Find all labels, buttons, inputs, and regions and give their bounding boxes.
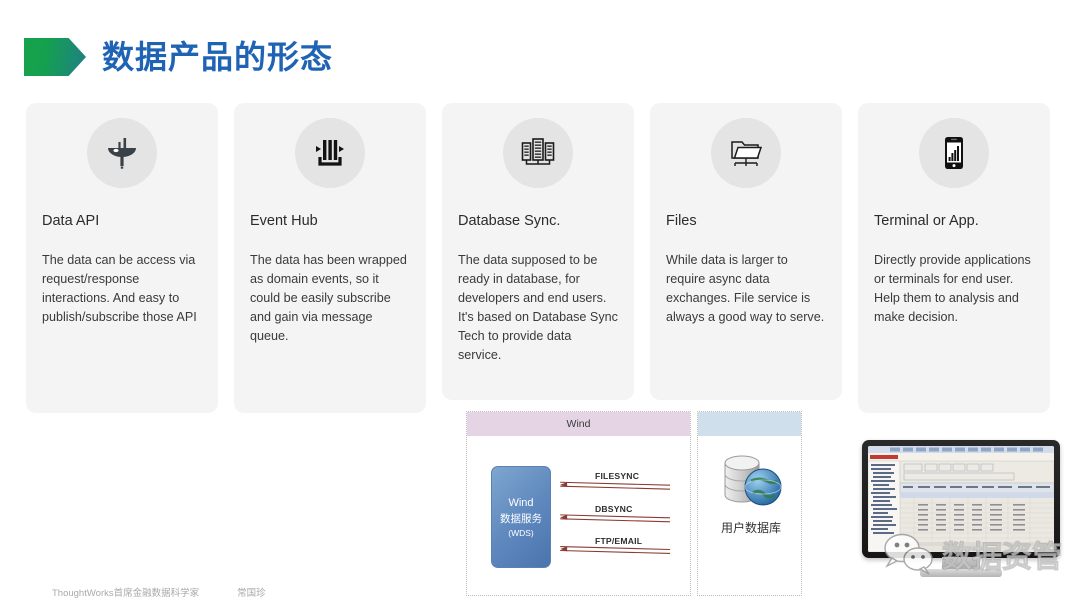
card-data-api[interactable]: Data API The data can be access via requ… <box>26 103 218 413</box>
watermark: 数据资管 <box>880 525 1080 583</box>
footer-role: ThoughtWorks首席金融数据科学家 <box>52 585 199 599</box>
card-row: Data API The data can be access via requ… <box>26 103 1056 413</box>
wind-data-service-box: Wind 数据服务 (WDS) <box>491 466 551 568</box>
wds-line-3: (WDS) <box>508 528 534 538</box>
shared-folder-icon <box>711 118 781 188</box>
server-racks-icon <box>503 118 573 188</box>
wind-panel-header: Wind <box>467 412 690 436</box>
funnel-icon <box>87 118 157 188</box>
wds-line-1: Wind <box>508 497 533 509</box>
slide-header: 数据产品的形态 <box>0 28 333 86</box>
watermark-text: 数据资管 <box>942 532 1062 576</box>
user-database-label: 用户数据库 <box>721 519 781 536</box>
card-terminal-or-app[interactable]: Terminal or App. Directly provide applic… <box>858 103 1050 413</box>
wds-line-2: 数据服务 <box>500 511 542 526</box>
card-title: Data API <box>42 213 218 229</box>
icon-wrap <box>234 118 426 188</box>
architecture-diagram: Wind Wind 数据服务 (WDS) <box>458 403 810 603</box>
card-body: The data has been wrapped as domain even… <box>250 251 410 346</box>
page-title: 数据产品的形态 <box>102 41 333 73</box>
card-body: Directly provide applications or termina… <box>874 251 1034 327</box>
card-title: Database Sync. <box>458 213 634 229</box>
event-queue-icon <box>295 118 365 188</box>
card-title: Files <box>666 213 842 229</box>
flow-label-dbsync: DBSYNC <box>595 504 633 514</box>
icon-wrap <box>442 118 634 188</box>
card-title: Terminal or App. <box>874 213 1050 229</box>
icon-wrap <box>650 118 842 188</box>
flow-label-filesync: FILESYNC <box>595 471 639 481</box>
user-database-group: 用户数据库 <box>712 451 790 536</box>
slide-canvas: 数据产品的形态 Data API The data can be access <box>0 0 1080 608</box>
icon-wrap <box>858 118 1050 188</box>
card-event-hub[interactable]: Event Hub The data has been wrapped as d… <box>234 103 426 413</box>
mobile-chart-icon <box>919 118 989 188</box>
card-body: The data can be access via request/respo… <box>42 251 202 327</box>
card-body: The data supposed to be ready in databas… <box>458 251 618 365</box>
database-globe-icon <box>715 451 787 515</box>
user-panel-header <box>698 412 801 436</box>
footer: ThoughtWorks首席金融数据科学家 常国珍 <box>52 585 266 599</box>
wind-panel: Wind Wind 数据服务 (WDS) <box>466 411 691 596</box>
green-arrow-icon <box>24 38 86 76</box>
wechat-icon <box>880 531 938 577</box>
flow-label-ftp-email: FTP/EMAIL <box>595 536 642 546</box>
footer-name: 常国珍 <box>237 585 266 599</box>
card-body: While data is larger to require async da… <box>666 251 826 327</box>
card-database-sync[interactable]: Database Sync. The data supposed to be r… <box>442 103 634 400</box>
card-title: Event Hub <box>250 213 426 229</box>
icon-wrap <box>26 118 218 188</box>
card-files[interactable]: Files While data is larger to require as… <box>650 103 842 400</box>
